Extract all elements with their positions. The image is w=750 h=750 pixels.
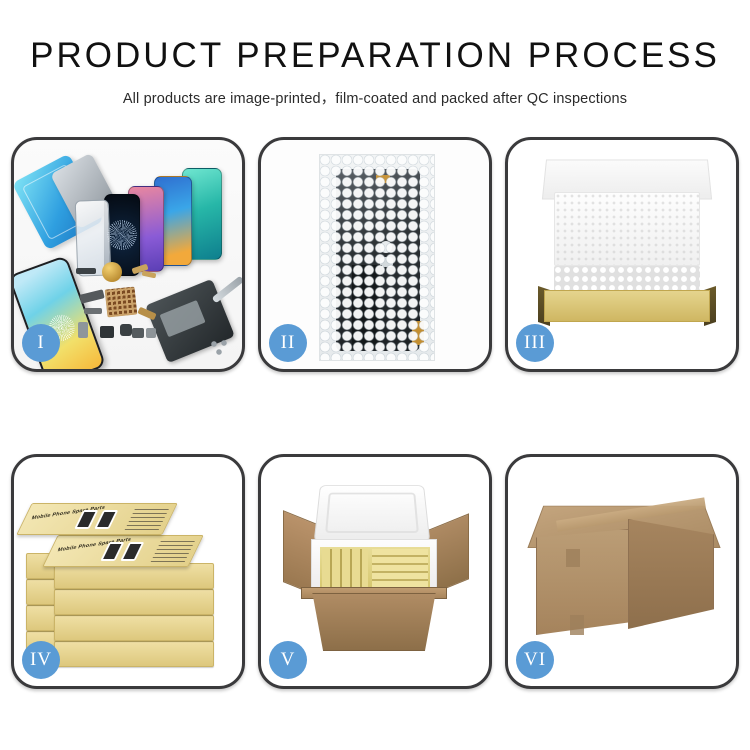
step-badge-4: IV [22, 641, 60, 679]
yellow-boxes-group-b [372, 549, 428, 587]
phone-screen-fan [92, 166, 242, 276]
process-step-panel-4: Mobile Phone Spare Parts Mobile Phone Sp… [11, 454, 245, 689]
box-label-spec-lines-top [125, 508, 170, 530]
product-preparation-infographic: PRODUCT PREPARATION PROCESS All products… [0, 0, 750, 750]
packed-yellow-boxes-icon [320, 547, 430, 589]
button-part-icon [146, 328, 156, 338]
step-badge-3: III [516, 324, 554, 362]
process-step-panel-1: I [11, 137, 245, 372]
bubble-texture-icon [320, 155, 434, 360]
box-label-spec-lines [151, 540, 196, 562]
carton-right-face-icon [628, 519, 714, 629]
stacked-box-right-5 [54, 641, 214, 667]
chip-array-icon [105, 287, 138, 318]
battery-connector-icon [78, 322, 88, 338]
box-front-icon [544, 290, 710, 322]
foam-cooler-lid-icon [314, 485, 431, 542]
stacked-box-right-lid: Mobile Phone Spare Parts [42, 535, 204, 567]
stacked-box-top-lid: Mobile Phone Spare Parts [16, 503, 178, 535]
page-subtitle: All products are image-printed，film-coat… [0, 87, 750, 108]
vibration-motor-icon [120, 324, 132, 336]
carton-front-icon [307, 593, 441, 651]
step-badge-1: I [22, 324, 60, 362]
step-badge-6: VI [516, 641, 554, 679]
process-step-grid: I II [11, 137, 739, 693]
process-step-panel-3: III [505, 137, 739, 372]
process-step-panel-2: II [258, 137, 492, 372]
step-badge-2: II [269, 324, 307, 362]
ribbon-cable-icon [84, 308, 102, 314]
part-strip-icon [76, 268, 96, 274]
bubble-wrap-bag-icon [319, 154, 435, 361]
step-badge-5: V [269, 641, 307, 679]
speaker-module-icon [102, 262, 122, 282]
screws-icon [210, 340, 232, 356]
stacked-box-right-4 [54, 615, 214, 641]
box-label-screen-thumb-d [94, 510, 118, 529]
box-stack: Mobile Phone Spare Parts Mobile Phone Sp… [20, 483, 234, 667]
header: PRODUCT PREPARATION PROCESS All products… [0, 0, 750, 108]
box-label-screen-thumb-b [120, 542, 144, 561]
connector-icon [79, 289, 104, 304]
yellow-boxes-group-a [322, 549, 368, 587]
process-step-panel-6: VI [505, 454, 739, 689]
carton-seam-upper-icon [566, 549, 580, 567]
carton-seam-lower-icon [570, 615, 584, 635]
camera-module-icon [100, 326, 114, 338]
sim-tray-icon [132, 328, 144, 338]
process-step-panel-5: V [258, 454, 492, 689]
page-title: PRODUCT PREPARATION PROCESS [0, 38, 750, 73]
foam-sheet-icon [554, 192, 700, 266]
stacked-box-right-3 [54, 589, 214, 615]
